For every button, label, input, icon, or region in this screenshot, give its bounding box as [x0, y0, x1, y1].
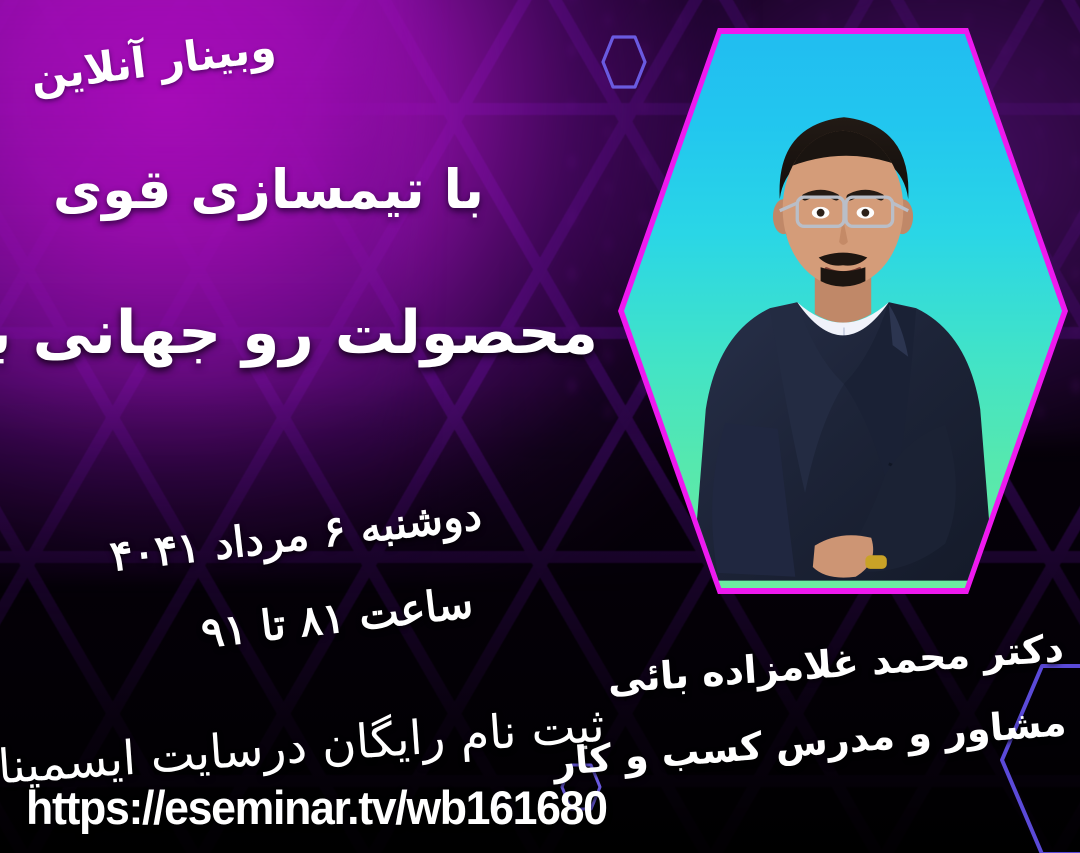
webinar-poster: وبینار آنلاین با تیمسازی قوی محصولت رو ج… [0, 0, 1080, 853]
hexagon-outline-icon [1006, 660, 1080, 853]
headline-line-1: با تیمسازی قوی [53, 158, 484, 221]
registration-url[interactable]: https://eseminar.tv/wb161680 [26, 780, 607, 835]
headline-line-2: محصولت رو جهانی بفروش [0, 298, 598, 368]
speaker-portrait [618, 28, 1068, 594]
